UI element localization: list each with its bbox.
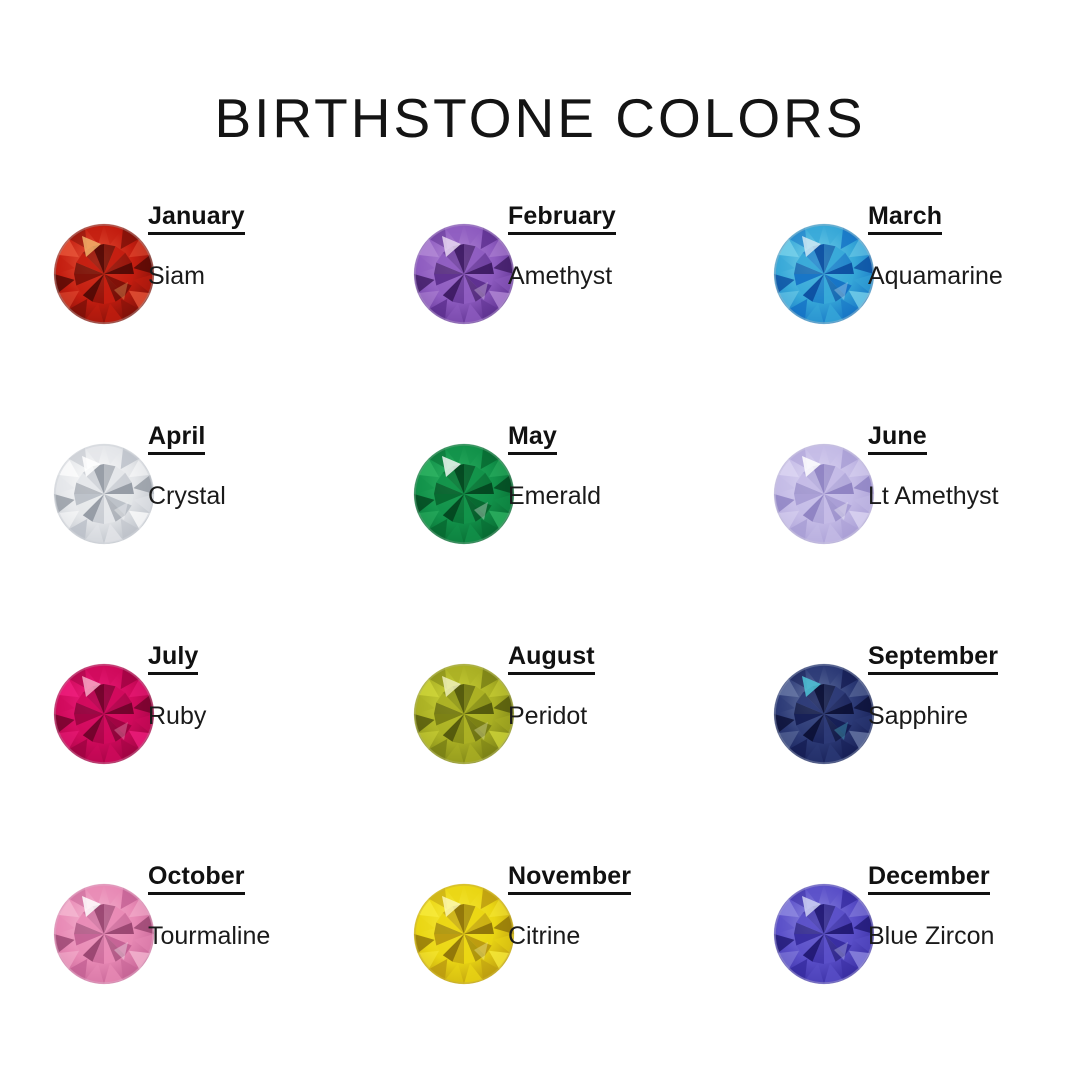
stone-name: Ruby bbox=[148, 703, 358, 731]
birthstone-labels: SeptemberSapphire bbox=[868, 644, 1078, 731]
stone-name: Tourmaline bbox=[148, 923, 358, 951]
stone-name: Citrine bbox=[508, 923, 718, 951]
month-label: January bbox=[148, 204, 245, 235]
birthstone-cell: MarchAquamarine bbox=[720, 196, 1080, 416]
birthstone-cell: SeptemberSapphire bbox=[720, 636, 1080, 856]
birthstone-labels: AugustPeridot bbox=[508, 644, 718, 731]
gem-swatch bbox=[772, 882, 876, 986]
gem-swatch bbox=[52, 662, 156, 766]
birthstone-labels: JulyRuby bbox=[148, 644, 358, 731]
birthstone-labels: MarchAquamarine bbox=[868, 204, 1078, 291]
birthstone-cell: JulyRuby bbox=[0, 636, 360, 856]
month-label: July bbox=[148, 644, 198, 675]
birthstone-cell: AugustPeridot bbox=[360, 636, 720, 856]
stone-name: Sapphire bbox=[868, 703, 1078, 731]
page-title: BIRTHSTONE COLORS bbox=[0, 86, 1080, 150]
gem-swatch bbox=[412, 662, 516, 766]
birthstone-cell: JanuarySiam bbox=[0, 196, 360, 416]
month-label: August bbox=[508, 644, 595, 675]
gem-swatch bbox=[52, 882, 156, 986]
stone-name: Lt Amethyst bbox=[868, 483, 1078, 511]
birthstone-cell: FebruaryAmethyst bbox=[360, 196, 720, 416]
month-label: December bbox=[868, 864, 990, 895]
birthstone-labels: JuneLt Amethyst bbox=[868, 424, 1078, 511]
month-label: March bbox=[868, 204, 942, 235]
birthstone-labels: FebruaryAmethyst bbox=[508, 204, 718, 291]
month-label: November bbox=[508, 864, 631, 895]
birthstone-labels: DecemberBlue Zircon bbox=[868, 864, 1078, 951]
birthstone-cell: NovemberCitrine bbox=[360, 856, 720, 1076]
birthstone-labels: AprilCrystal bbox=[148, 424, 358, 511]
gem-icon bbox=[52, 662, 156, 766]
gem-swatch bbox=[412, 882, 516, 986]
gem-icon bbox=[52, 882, 156, 986]
birthstone-cell: OctoberTourmaline bbox=[0, 856, 360, 1076]
stone-name: Crystal bbox=[148, 483, 358, 511]
stone-name: Siam bbox=[148, 263, 358, 291]
gem-icon bbox=[412, 882, 516, 986]
birthstone-cell: AprilCrystal bbox=[0, 416, 360, 636]
month-label: June bbox=[868, 424, 927, 455]
stone-name: Emerald bbox=[508, 483, 718, 511]
birthstone-labels: NovemberCitrine bbox=[508, 864, 718, 951]
birthstone-labels: JanuarySiam bbox=[148, 204, 358, 291]
gem-icon bbox=[772, 222, 876, 326]
gem-icon bbox=[412, 442, 516, 546]
stone-name: Aquamarine bbox=[868, 263, 1078, 291]
gem-icon bbox=[772, 882, 876, 986]
stone-name: Peridot bbox=[508, 703, 718, 731]
birthstone-grid: JanuarySiamFebruaryAmethystMarchAquamari… bbox=[0, 196, 1080, 1076]
month-label: October bbox=[148, 864, 245, 895]
stone-name: Blue Zircon bbox=[868, 923, 1078, 951]
birthstone-cell: JuneLt Amethyst bbox=[720, 416, 1080, 636]
gem-icon bbox=[412, 662, 516, 766]
gem-swatch bbox=[52, 442, 156, 546]
month-label: May bbox=[508, 424, 557, 455]
birthstone-labels: MayEmerald bbox=[508, 424, 718, 511]
gem-icon bbox=[52, 222, 156, 326]
gem-swatch bbox=[772, 442, 876, 546]
month-label: September bbox=[868, 644, 998, 675]
birthstone-cell: DecemberBlue Zircon bbox=[720, 856, 1080, 1076]
gem-icon bbox=[772, 662, 876, 766]
month-label: February bbox=[508, 204, 616, 235]
stone-name: Amethyst bbox=[508, 263, 718, 291]
gem-swatch bbox=[412, 442, 516, 546]
gem-icon bbox=[52, 442, 156, 546]
birthstone-cell: MayEmerald bbox=[360, 416, 720, 636]
gem-swatch bbox=[52, 222, 156, 326]
birthstone-chart-page: BIRTHSTONE COLORS JanuarySiamFebruaryAme… bbox=[0, 0, 1080, 1079]
month-label: April bbox=[148, 424, 205, 455]
gem-icon bbox=[772, 442, 876, 546]
gem-swatch bbox=[412, 222, 516, 326]
gem-swatch bbox=[772, 222, 876, 326]
gem-swatch bbox=[772, 662, 876, 766]
gem-icon bbox=[412, 222, 516, 326]
birthstone-labels: OctoberTourmaline bbox=[148, 864, 358, 951]
